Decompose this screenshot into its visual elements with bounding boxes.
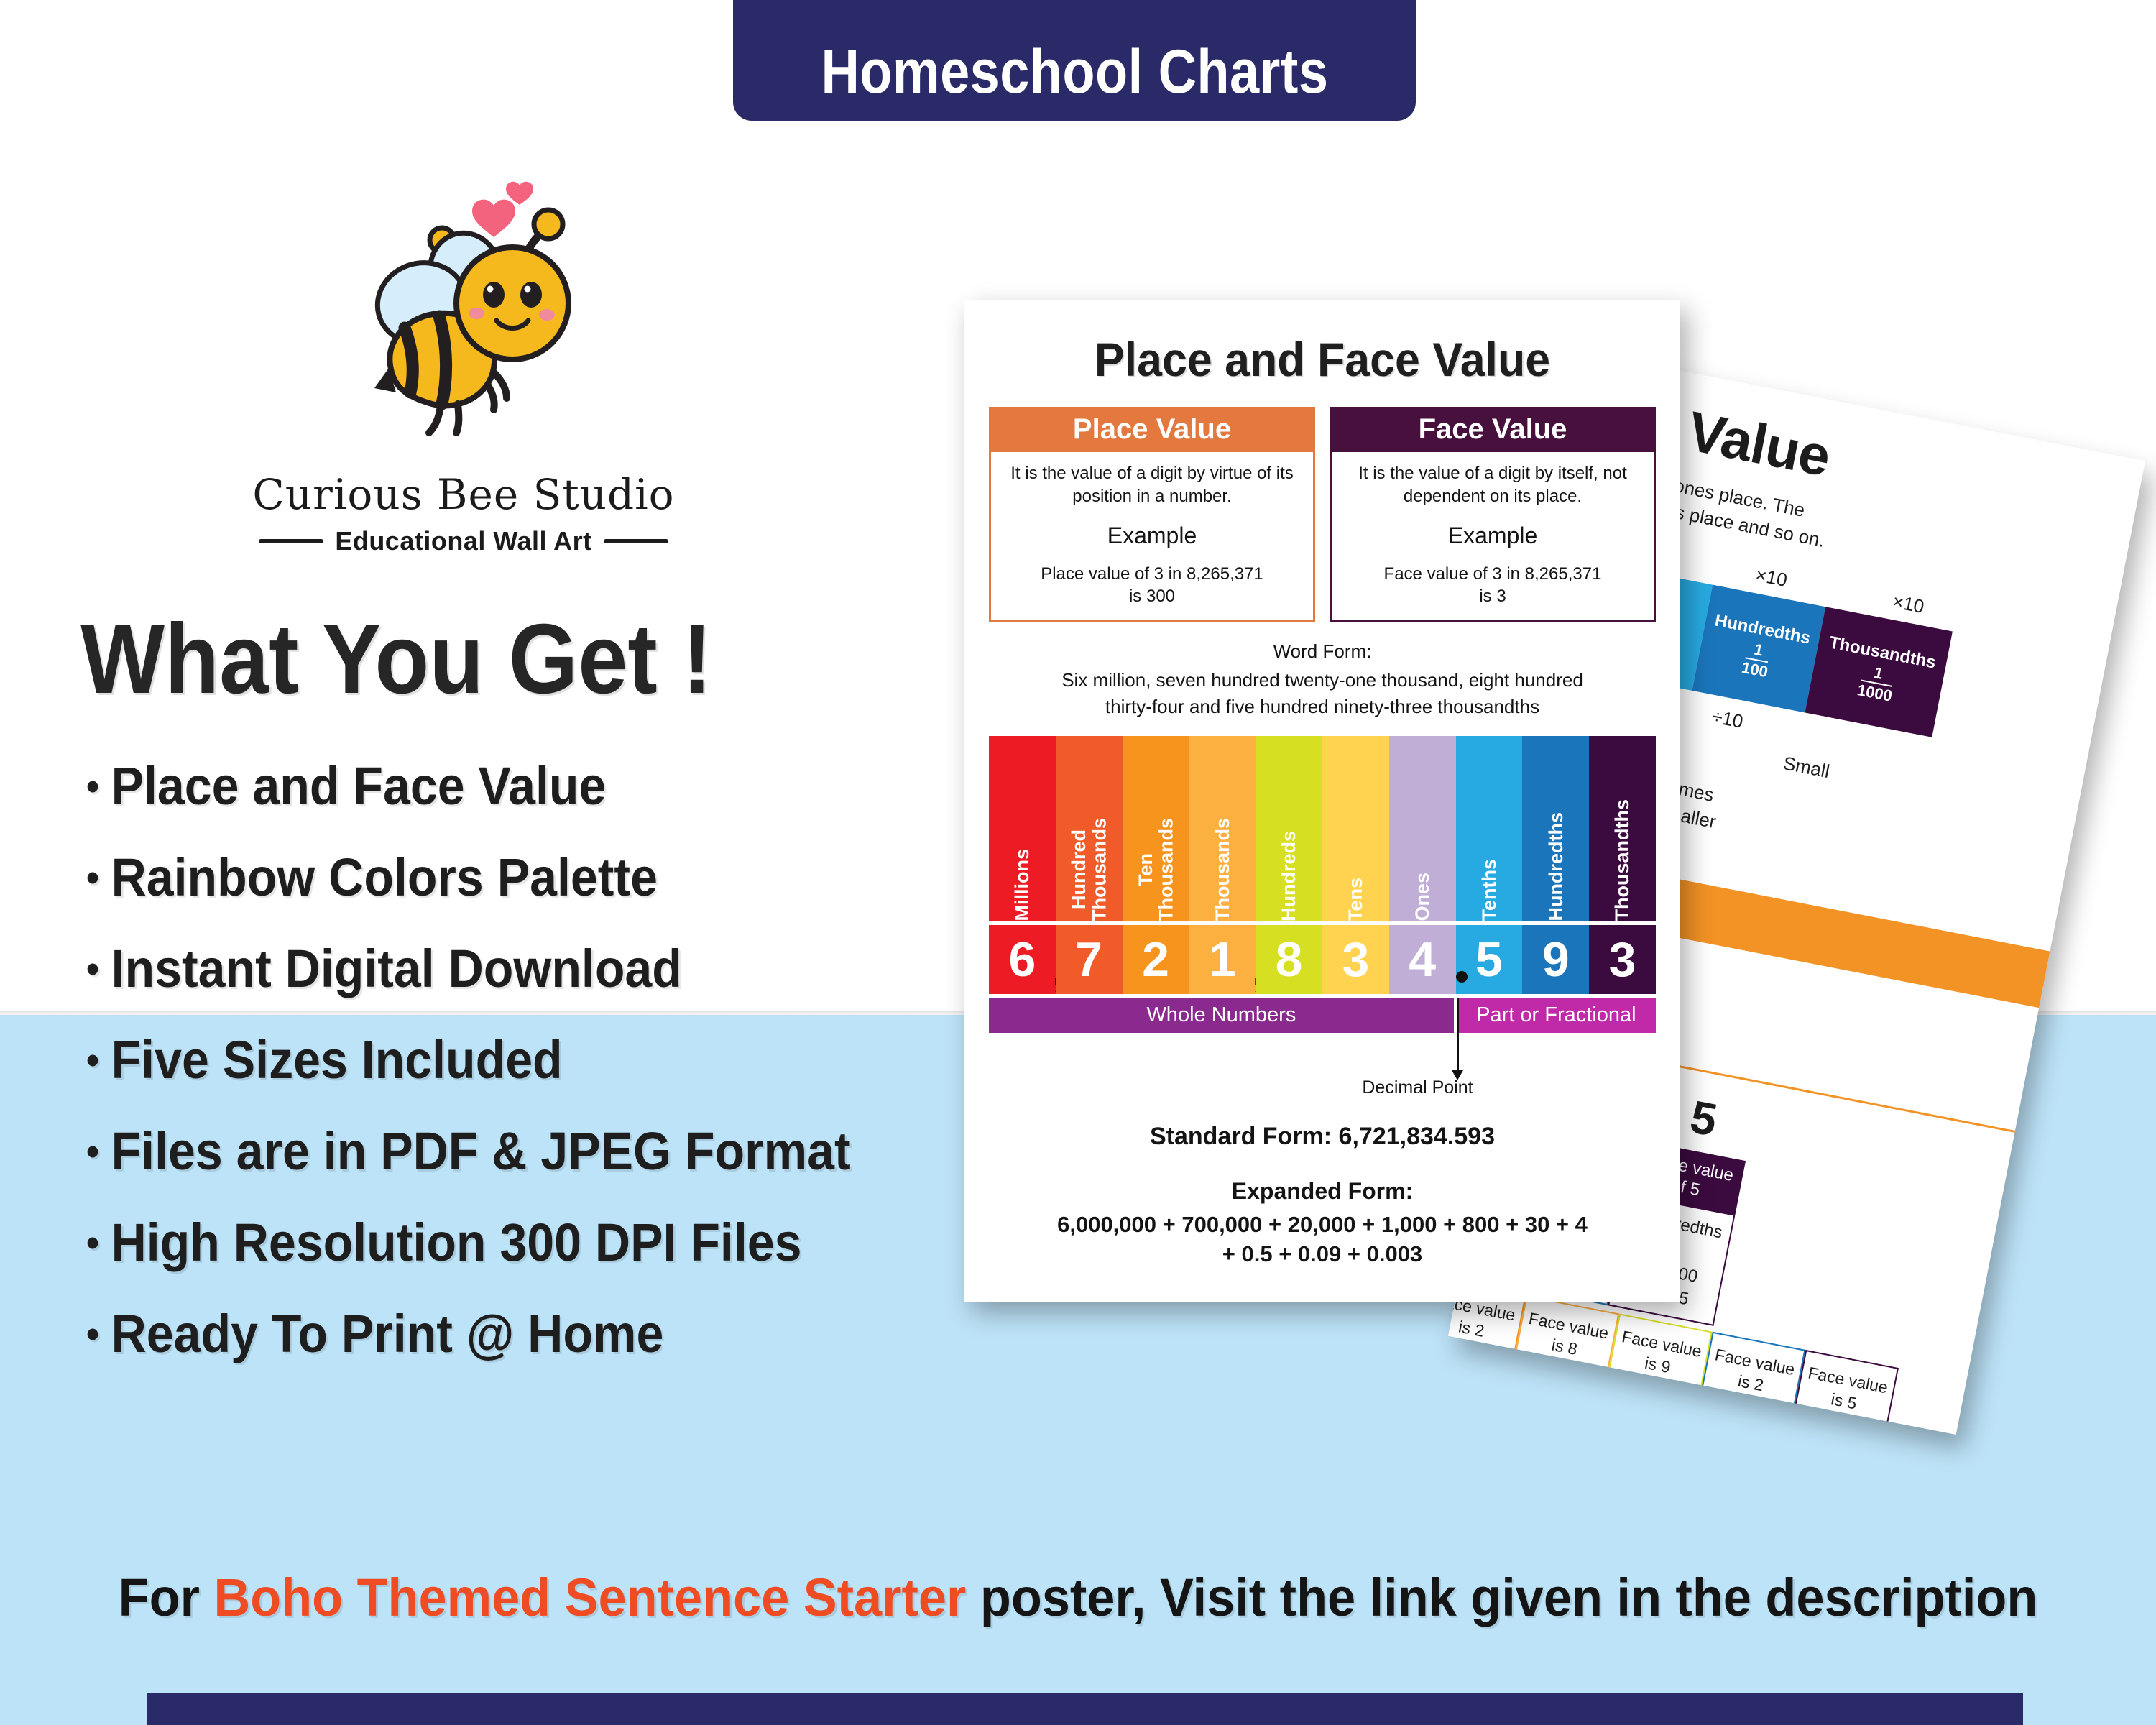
bullet-dot-icon: • [86, 763, 99, 809]
bee-with-hearts-icon [305, 180, 622, 467]
bullet-dot-icon: • [86, 855, 99, 900]
brand-name: Curious Bee Studio [252, 470, 674, 519]
digit-cell: 4 [1389, 925, 1456, 994]
standard-form-line: Standard Form: 6,721,834.593 [989, 1123, 1656, 1151]
list-item-label: Files are in PDF & JPEG Format [111, 1121, 851, 1181]
place-value-body: It is the value of a digit by virtue of … [989, 452, 1315, 622]
list-item: •Files are in PDF & JPEG Format [86, 1121, 860, 1182]
digit-cell: 5 [1456, 925, 1523, 994]
callout-arrowhead-icon [1452, 1070, 1463, 1080]
list-item-label: Instant Digital Download [111, 939, 682, 998]
pv-column-label: Tenths [1479, 850, 1499, 921]
expanded-form-block: Expanded Form: 6,000,000 + 700,000 + 20,… [989, 1177, 1656, 1269]
pv-column-hundredths: Hundredths [1522, 736, 1589, 921]
digit-value: 5 [1475, 931, 1503, 988]
digit-value: 4 [1409, 931, 1436, 988]
digit-cell: 7 [1056, 925, 1123, 994]
fractional-part-band: Part or Fractional [1457, 998, 1656, 1033]
strip-cell-thousandths: Thousandths 1 1000 [1805, 607, 1953, 737]
digit-value: 2 [1142, 931, 1169, 988]
pv-column-label: Hundredths [1546, 804, 1566, 921]
bullet-dot-icon: • [86, 1311, 99, 1356]
mult-label: ×10 [1891, 590, 1926, 618]
digit-value: 1 [1209, 931, 1236, 988]
digit-value: 3 [1609, 931, 1636, 988]
pv-column-ten-thousands: Ten Thousands [1123, 736, 1189, 921]
digit-cell: 8 [1256, 925, 1322, 994]
pv-column-label: Ten Thousands [1135, 809, 1176, 921]
digit-cell: 9 [1522, 925, 1589, 994]
list-item: •Instant Digital Download [86, 938, 860, 999]
fraction: 1 100 [1741, 640, 1774, 680]
decimal-point-callout [989, 1033, 1656, 1080]
word-form-block: Word Form: Six million, seven hundred tw… [989, 638, 1656, 720]
face-value-definition-box: Face Value It is the value of a digit by… [1330, 407, 1656, 622]
pv-column-hundreds: Hundreds [1256, 736, 1322, 921]
footer-suffix: poster, Visit the link given in the desc… [966, 1568, 2037, 1627]
face-value-example-line1: Face value of 3 in 8,265,371 [1384, 564, 1602, 584]
pv-column-label: Tens [1345, 869, 1365, 921]
strip-cell-hundredths: Hundredths 1 100 [1692, 584, 1826, 712]
brand-tagline-row: Educational Wall Art [259, 526, 668, 556]
place-value-chart: Millions Hundred Thousands Ten Thousands… [989, 736, 1656, 1098]
pv-column-thousandths: Thousandths [1589, 736, 1656, 921]
pv-column-label: Hundred Thousands [1069, 809, 1110, 921]
callout-line [1457, 998, 1459, 1072]
header-banner: Homeschool Charts [733, 0, 1416, 121]
place-value-column-headers: Millions Hundred Thousands Ten Thousands… [989, 736, 1656, 921]
pv-column-label: Thousandths [1612, 791, 1632, 921]
place-value-example-line2: is 300 [1129, 586, 1175, 606]
pv-column-label: Ones [1412, 864, 1432, 921]
digit-cell: 6, [989, 925, 1056, 994]
bullet-dot-icon: • [86, 1037, 99, 1082]
header-title: Homeschool Charts [821, 37, 1328, 108]
digit-value: 3 [1342, 931, 1369, 988]
pv-column-thousands: Thousands [1189, 736, 1256, 921]
div-label: ÷10 [1710, 705, 1745, 733]
pv-column-millions: Millions [989, 736, 1056, 921]
definition-boxes: Place Value It is the value of a digit b… [989, 407, 1656, 622]
list-item-label: Rainbow Colors Palette [111, 847, 658, 907]
bullet-dot-icon: • [86, 946, 99, 991]
digit-cell: 2 [1123, 925, 1189, 994]
pv-column-tenths: Tenths [1456, 736, 1523, 921]
axis-label-small-right: Small [1782, 752, 1832, 782]
fraction: 1 1000 [1856, 662, 1897, 704]
digit-value: 6 [1008, 931, 1036, 988]
pv-column-hundred-thousands: Hundred Thousands [1056, 736, 1123, 921]
place-value-example-label: Example [1001, 520, 1303, 551]
expanded-form-line2: + 0.5 + 0.09 + 0.003 [1222, 1241, 1422, 1266]
list-item-label: Ready To Print @ Home [111, 1304, 664, 1363]
decimal-point-icon [1456, 971, 1468, 983]
footer-navy-bar [147, 1693, 2023, 1725]
list-item-label: High Resolution 300 DPI Files [111, 1213, 802, 1272]
face-value-heading: Face Value [1330, 407, 1656, 452]
face-value-example-label: Example [1342, 520, 1644, 551]
number-part-bands: Whole Numbers Part or Fractional [989, 998, 1656, 1033]
footer-text: For Boho Themed Sentence Starter poster,… [54, 1567, 2102, 1628]
expanded-form-line1: 6,000,000 + 700,000 + 20,000 + 1,000 + 8… [1057, 1212, 1588, 1237]
example-digit: 5 [1686, 1090, 1721, 1146]
place-value-heading: Place Value [989, 407, 1315, 452]
digit-cell: 3 [1589, 925, 1656, 994]
brand-tagline: Educational Wall Art [335, 526, 591, 556]
place-value-example-line1: Place value of 3 in 8,265,371 [1041, 564, 1263, 584]
list-item-label: Five Sizes Included [111, 1030, 563, 1090]
front-poster-title: Place and Face Value [1005, 332, 1639, 387]
footer-highlight[interactable]: Boho Themed Sentence Starter [213, 1568, 966, 1627]
place-value-text: It is the value of a digit by virtue of … [1001, 462, 1303, 507]
word-form-line2: thirty-four and five hundred ninety-thre… [1105, 696, 1539, 717]
digit-value: 7 [1075, 931, 1102, 988]
pv-column-ones: Ones [1389, 736, 1456, 921]
list-item-label: Place and Face Value [111, 756, 607, 816]
pv-column-label: Thousands [1212, 809, 1233, 921]
bullet-dot-icon: • [86, 1220, 99, 1265]
digit-cell: 3 [1322, 925, 1389, 994]
front-poster-card: Place and Face Value Place Value It is t… [964, 300, 1680, 1302]
list-item: •Place and Face Value [86, 755, 860, 816]
page-title: What You Get ! [80, 602, 842, 717]
face-value-body: It is the value of a digit by itself, no… [1330, 452, 1656, 622]
fraction-denominator: 100 [1741, 659, 1769, 680]
tagline-rule-left [259, 539, 323, 543]
digit-value: 8 [1276, 931, 1303, 988]
digit-row: 6, 7 2 1, 8 3 4 5 9 3 [989, 925, 1656, 994]
list-item: •High Resolution 300 DPI Files [86, 1212, 860, 1273]
features-list: •Place and Face Value •Rainbow Colors Pa… [86, 755, 927, 1364]
list-item: •Rainbow Colors Palette [86, 847, 860, 908]
left-column: Curious Bee Studio Educational Wall Art … [0, 180, 927, 1394]
tagline-rule-right [604, 539, 668, 543]
face-value-example-line2: is 3 [1479, 586, 1506, 606]
place-value-definition-box: Place Value It is the value of a digit b… [989, 407, 1315, 622]
word-form-label: Word Form: [989, 638, 1656, 665]
face-value-text: It is the value of a digit by itself, no… [1342, 462, 1644, 507]
expanded-form-label: Expanded Form: [989, 1177, 1656, 1207]
word-form-line1: Six million, seven hundred twenty-one th… [1061, 669, 1583, 691]
bullet-dot-icon: • [86, 1128, 99, 1174]
digit-cell: 1, [1189, 925, 1256, 994]
pv-column-tens: Tens [1322, 736, 1389, 921]
decimal-point-label: Decimal Point [1179, 1077, 1656, 1098]
mult-label: ×10 [1754, 563, 1789, 592]
pv-column-label: Millions [1012, 840, 1032, 921]
brand-logo-block: Curious Bee Studio Educational Wall Art [0, 180, 927, 556]
pv-column-label: Hundreds [1279, 822, 1299, 921]
list-item: •Five Sizes Included [86, 1029, 860, 1090]
whole-numbers-band: Whole Numbers [989, 998, 1454, 1033]
digit-value: 9 [1542, 931, 1570, 988]
footer-prefix: For [119, 1568, 214, 1627]
list-item: •Ready To Print @ Home [86, 1303, 860, 1364]
